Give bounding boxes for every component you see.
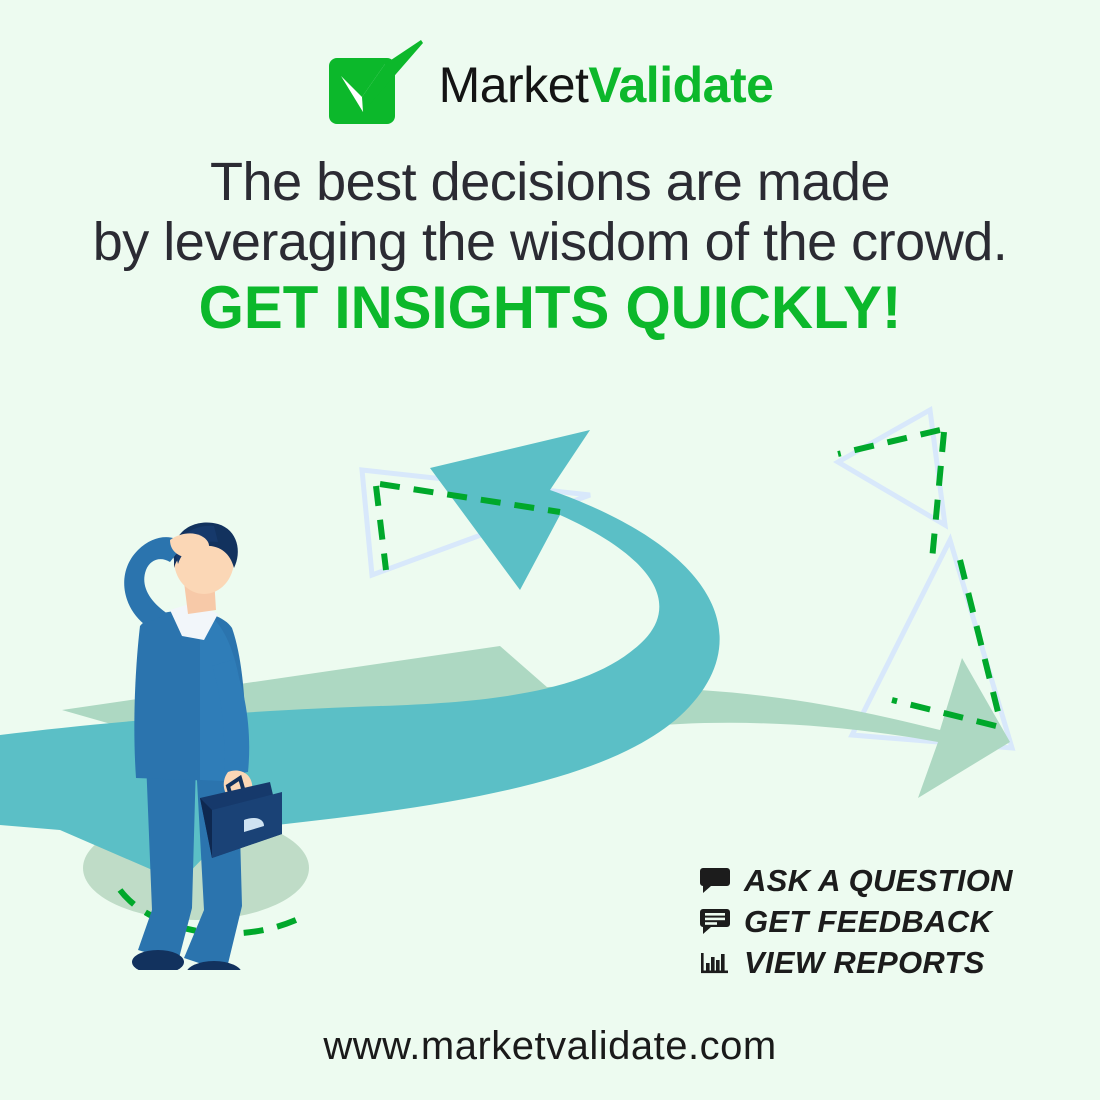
- brand-logo[interactable]: MarketValidate: [0, 40, 1100, 130]
- wordmark-secondary: Validate: [588, 57, 773, 113]
- feature-view-reports[interactable]: VIEW REPORTS: [700, 942, 1030, 983]
- speech-bubble-icon: [700, 866, 730, 896]
- bar-chart-icon: [700, 948, 730, 978]
- brand-wordmark: MarketValidate: [439, 60, 774, 110]
- feature-list: ASK A QUESTION GET FEEDBACK: [700, 860, 1030, 983]
- feedback-bubble-icon: [700, 907, 730, 937]
- checkmark-box-logo-icon: [327, 40, 423, 130]
- wordmark-primary: Market: [439, 57, 589, 113]
- feature-label: VIEW REPORTS: [744, 945, 985, 981]
- promo-poster: MarketValidate The best decisions are ma…: [0, 0, 1100, 1100]
- headline: The best decisions are made by leveragin…: [0, 152, 1100, 272]
- subheadline: GET INSIGHTS QUICKLY!: [17, 276, 1084, 340]
- feature-label: GET FEEDBACK: [744, 904, 992, 940]
- feature-label: ASK A QUESTION: [744, 863, 1013, 899]
- headline-line-1: The best decisions are made: [210, 152, 890, 212]
- headline-line-2: by leveraging the wisdom of the crowd.: [0, 212, 1100, 272]
- feature-ask-a-question[interactable]: ASK A QUESTION: [700, 860, 1030, 901]
- footer-website-url[interactable]: www.marketvalidate.com: [0, 1024, 1100, 1069]
- feature-get-feedback[interactable]: GET FEEDBACK: [700, 901, 1030, 942]
